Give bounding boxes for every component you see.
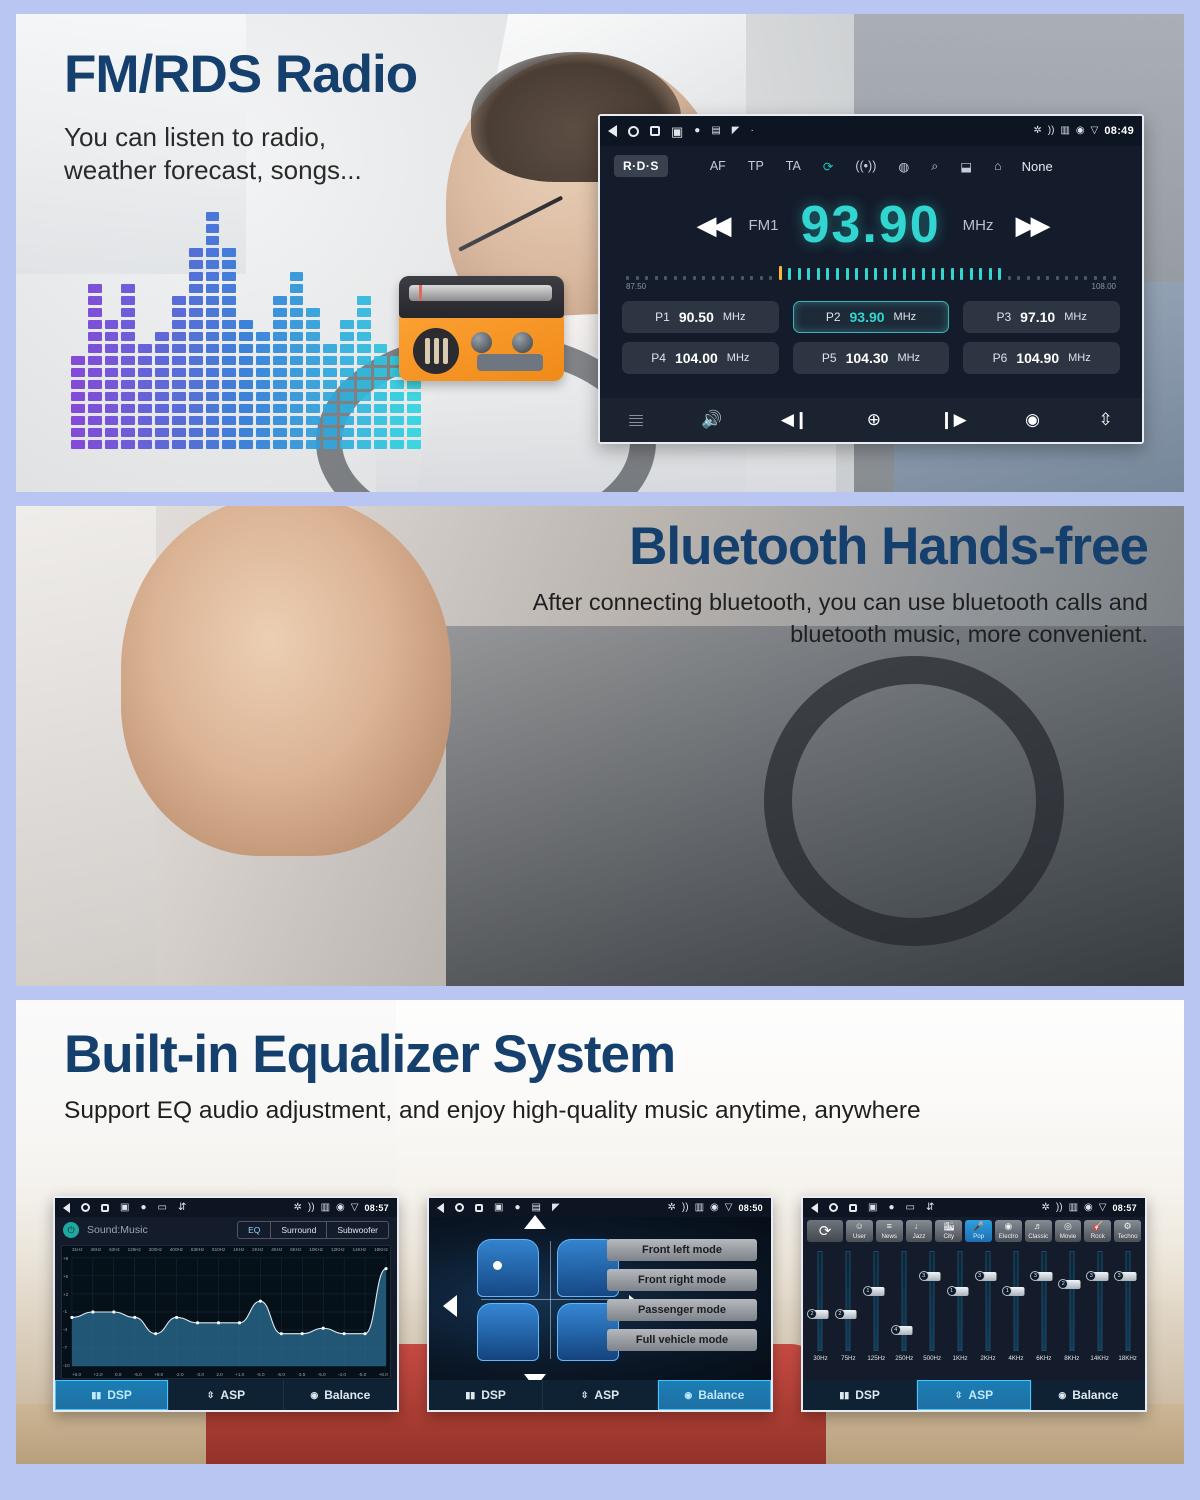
spectrum-block <box>357 404 371 413</box>
tuner-tick[interactable] <box>721 276 724 280</box>
eq-slider-bank[interactable]: 230Hz275Hz1125Hz4250Hz3500Hz11KHz32KHz14… <box>803 1245 1145 1369</box>
spectrum-block <box>155 416 169 425</box>
eq-slider-6khz[interactable]: 36KHz <box>1031 1249 1056 1369</box>
spectrum-block <box>172 308 186 317</box>
spectrum-block <box>374 344 388 353</box>
reset-icon[interactable]: ⟳ <box>807 1220 843 1242</box>
slider-rail[interactable] <box>818 1251 823 1351</box>
spectrum-block <box>357 416 371 425</box>
back-icon[interactable] <box>63 1203 70 1213</box>
preset-unit: MHz <box>1064 311 1087 323</box>
spectrum-block <box>340 356 354 365</box>
slider-rail[interactable] <box>1013 1251 1018 1351</box>
spectrum-block <box>206 332 220 341</box>
spectrum-block <box>306 440 320 449</box>
rewind-icon[interactable]: ◀◀ <box>697 210 727 241</box>
rds-option-af[interactable]: AF <box>710 159 726 173</box>
tuner-tick[interactable] <box>1008 276 1011 280</box>
preset-p1[interactable]: P190.50MHz <box>622 301 779 333</box>
eq-preset-label: Rock <box>1091 1233 1105 1240</box>
spectrum-block <box>239 344 253 353</box>
eq-slider-30hz[interactable]: 230Hz <box>808 1249 833 1369</box>
usb-icon: ⇵ <box>178 1203 186 1213</box>
usb-icon: ⇵ <box>926 1203 934 1213</box>
tuner-tick[interactable] <box>636 276 639 280</box>
spectrum-block <box>374 392 388 401</box>
dsp-value-label: -2.0 <box>176 1372 184 1377</box>
slider-track[interactable]: 3 <box>1031 1249 1056 1353</box>
home-icon[interactable] <box>829 1203 838 1212</box>
page-title-bluetooth: Bluetooth Hands-free <box>336 520 1148 573</box>
eq-slider-14khz[interactable]: 314KHz <box>1087 1249 1112 1369</box>
eq-slider-2khz[interactable]: 32KHz <box>976 1249 1001 1369</box>
rds-option-group[interactable]: AFTPTA⟳((•))◍⌕⬓⌂ <box>710 159 1002 174</box>
sound-mode-list[interactable]: Front left modeFront right modePassenger… <box>607 1239 757 1351</box>
tuner-tick[interactable] <box>865 268 868 280</box>
tuner-tick[interactable] <box>1037 276 1040 280</box>
slider-frequency-label: 14KHz <box>1090 1355 1109 1362</box>
tuner-tick[interactable] <box>903 268 906 280</box>
eq-preset-user[interactable]: ☺User <box>846 1220 873 1242</box>
spectrum-block <box>222 440 236 449</box>
spectrum-block <box>121 344 135 353</box>
spectrum-block <box>206 236 220 245</box>
eq-bottom-tabs[interactable]: ▮▮DSP⇳ASP◉Balance <box>803 1380 1145 1410</box>
tuner-tick[interactable] <box>884 268 887 280</box>
mode-button-front-left-mode[interactable]: Front left mode <box>607 1239 757 1261</box>
tuner-tick[interactable] <box>674 276 677 280</box>
slider-track[interactable]: 1 <box>864 1249 889 1353</box>
tuner-tick[interactable] <box>989 268 992 280</box>
preset-unit: MHz <box>1068 352 1091 364</box>
tuner-tick[interactable] <box>951 268 954 280</box>
statusbar-nav-group[interactable]: ▣ ● ▤ ◤ <box>437 1203 560 1213</box>
spectrum-block <box>273 428 287 437</box>
tuner-scale[interactable]: 87.50 108.00 <box>600 264 1142 291</box>
slider-track[interactable]: 4 <box>892 1249 917 1353</box>
spectrum-block <box>172 368 186 377</box>
tuner-tick[interactable] <box>1103 276 1106 280</box>
preset-p3[interactable]: P397.10MHz <box>963 301 1120 333</box>
balance-position-dot[interactable] <box>493 1261 502 1270</box>
seat-front-left[interactable] <box>477 1239 539 1297</box>
equalizer-icon[interactable]: ⇳ <box>1098 410 1112 430</box>
jazz-icon: ♩ <box>914 1222 923 1231</box>
spectrum-block <box>357 308 371 317</box>
record-dot-icon: ● <box>888 1203 894 1213</box>
spectrum-column <box>374 344 388 449</box>
rds-option-ta[interactable]: TA <box>786 159 801 173</box>
city-icon: 🏙 <box>943 1222 954 1231</box>
statusbar-status-group: ✲ )) ▥ ◉ ▽ 08:49 <box>1033 125 1134 137</box>
eq-preset-row[interactable]: ⟳ ☺User≡News♩Jazz🏙City🎤Pop◉Electro♬Class… <box>803 1217 1145 1245</box>
balance-axis-horizontal <box>481 1299 621 1300</box>
eq-tab-dsp[interactable]: ▮▮DSP <box>803 1380 917 1410</box>
spectrum-column <box>239 320 253 449</box>
scan-search-icon[interactable]: ⊕ <box>867 410 881 430</box>
tuner-tick[interactable] <box>1027 276 1030 280</box>
broadcast-icon[interactable]: ◉ <box>1025 410 1040 430</box>
preset-p2[interactable]: P293.90MHz <box>793 301 950 333</box>
graphic-equalizer-screen[interactable]: ▣ ● ▭ ⇵ ✲ )) ▥ ◉ ▽ 08:57 ⟳ <box>801 1196 1147 1412</box>
rds-option-icon-5[interactable]: ◍ <box>898 159 909 174</box>
eq-slider-1khz[interactable]: 11KHz <box>948 1249 973 1369</box>
spectrum-block <box>138 416 152 425</box>
spectrum-column <box>273 296 287 449</box>
eq-preset-label: News <box>881 1233 896 1240</box>
spectrum-block <box>256 344 270 353</box>
spectrum-block <box>273 380 287 389</box>
spectrum-block <box>71 404 85 413</box>
spectrum-block <box>138 356 152 365</box>
slider-rail[interactable] <box>985 1251 990 1351</box>
spectrum-block <box>273 332 287 341</box>
spectrum-block <box>390 392 404 401</box>
tuner-tick[interactable] <box>741 276 744 280</box>
screencast-icon: ▥ <box>1060 126 1069 136</box>
slider-rail[interactable] <box>1097 1251 1102 1351</box>
spectrum-block <box>172 320 186 329</box>
tuner-tick[interactable] <box>893 268 896 280</box>
spectrum-block <box>323 392 337 401</box>
dsp-eq-curve-chart[interactable]: 31Hz48Hz63Hz125Hz200Hz400Hz630Hz810Hz1KH… <box>61 1245 391 1379</box>
seat-rear-left[interactable] <box>477 1303 539 1361</box>
tuner-tick[interactable] <box>960 268 963 280</box>
spectrum-block <box>206 416 220 425</box>
eq-tab-balance[interactable]: ◉Balance <box>284 1380 397 1410</box>
statusbar-nav-group[interactable]: ▣ ● ▤ ◤ · <box>608 125 754 138</box>
spectrum-block <box>273 308 287 317</box>
spectrum-block <box>374 416 388 425</box>
recents-icon[interactable] <box>475 1204 483 1212</box>
spectrum-block <box>239 404 253 413</box>
radio-signal-icon[interactable]: 𝄙 <box>629 410 643 430</box>
rds-option-icon-7[interactable]: ⬓ <box>960 159 972 174</box>
preset-grid[interactable]: P190.50MHzP293.90MHzP397.10MHzP4104.00MH… <box>600 291 1142 374</box>
eq-preset-label: Techno <box>1118 1233 1138 1240</box>
spectrum-block <box>88 356 102 365</box>
spectrum-block <box>189 308 203 317</box>
spectrum-block <box>340 332 354 341</box>
mode-button-full-vehicle-mode[interactable]: Full vehicle mode <box>607 1329 757 1351</box>
tuner-tick[interactable] <box>750 276 753 280</box>
spectrum-block <box>105 320 119 329</box>
preset-frequency: 104.90 <box>1016 350 1059 366</box>
slider-value: 2 <box>807 1309 817 1319</box>
spectrum-column <box>71 356 85 449</box>
next-track-icon[interactable]: ❙▶ <box>939 410 966 430</box>
eq-preset-buttons[interactable]: ☺User≡News♩Jazz🏙City🎤Pop◉Electro♬Classic… <box>846 1220 1141 1242</box>
eq-tab-asp[interactable]: ⇳ASP <box>169 1380 283 1410</box>
location-icon: ◉ <box>336 1203 345 1213</box>
pop-icon: 🎤 <box>973 1222 984 1231</box>
spectrum-block <box>206 428 220 437</box>
recents-icon[interactable] <box>650 126 660 136</box>
tuner-tick[interactable] <box>683 276 686 280</box>
eq-tab-dsp[interactable]: ▮▮DSP <box>55 1380 169 1410</box>
dsp-tab-surround[interactable]: Surround <box>271 1222 327 1238</box>
slider-track[interactable]: 3 <box>1115 1249 1140 1353</box>
spectrum-block <box>306 344 320 353</box>
spectrum-block <box>71 416 85 425</box>
preset-frequency: 93.90 <box>850 309 885 325</box>
slider-track[interactable]: 3 <box>920 1249 945 1353</box>
spectrum-block <box>71 392 85 401</box>
tuner-ticks[interactable] <box>626 264 1116 280</box>
spectrum-block <box>206 284 220 293</box>
slider-rail[interactable] <box>846 1251 851 1351</box>
balance-speaker-icon: ◉ <box>310 1390 318 1401</box>
slider-track[interactable]: 2 <box>836 1249 861 1353</box>
tuner-tick[interactable] <box>826 268 829 280</box>
tuner-tick[interactable] <box>693 276 696 280</box>
eq-slider-8khz[interactable]: 28KHz <box>1059 1249 1084 1369</box>
frequency-display-row: ◀◀ FM1 93.90 MHz ▶▶ <box>600 186 1142 264</box>
spectrum-block <box>256 392 270 401</box>
tuner-tick[interactable] <box>1046 276 1049 280</box>
rds-badge[interactable]: R·D·S <box>614 155 668 177</box>
tuner-tick[interactable] <box>798 268 801 280</box>
slider-rail[interactable] <box>874 1251 879 1351</box>
slider-track[interactable]: 1 <box>948 1249 973 1353</box>
preset-frequency: 90.50 <box>679 309 714 325</box>
eq-preset-city[interactable]: 🏙City <box>935 1220 962 1242</box>
rds-option-icon-3[interactable]: ⟳ <box>823 159 833 174</box>
back-icon[interactable] <box>608 125 617 137</box>
home-icon[interactable] <box>628 126 639 137</box>
spectrum-block <box>206 224 220 233</box>
dsp-tab-subwoofer[interactable]: Subwoofer <box>327 1222 388 1238</box>
mode-button-front-right-mode[interactable]: Front right mode <box>607 1269 757 1291</box>
preset-p4[interactable]: P4104.00MHz <box>622 342 779 374</box>
spectrum-block <box>306 308 320 317</box>
tuner-tick[interactable] <box>874 268 877 280</box>
eq-tab-balance[interactable]: ◉Balance <box>658 1380 771 1410</box>
eq-preset-rock[interactable]: 🎸Rock <box>1084 1220 1111 1242</box>
tuner-tick[interactable] <box>970 268 973 280</box>
eq-preset-label: Electro <box>999 1233 1018 1240</box>
spectrum-block <box>290 344 304 353</box>
tuner-tick[interactable] <box>1113 276 1116 280</box>
tuner-tick[interactable] <box>912 268 915 280</box>
eq-tab-asp[interactable]: ⇳ASP <box>543 1380 657 1410</box>
rds-option-icon-6[interactable]: ⌕ <box>931 159 938 174</box>
spectrum-block <box>357 356 371 365</box>
statusbar-nav-group[interactable]: ▣ ● ▭ ⇵ <box>63 1203 186 1213</box>
spectrum-block <box>273 416 287 425</box>
mode-button-passenger-mode[interactable]: Passenger mode <box>607 1299 757 1321</box>
eq-preset-news[interactable]: ≡News <box>876 1220 903 1242</box>
slider-rail[interactable] <box>1069 1251 1074 1351</box>
arrow-up-icon[interactable] <box>524 1215 546 1229</box>
balance-screen[interactable]: ▣ ● ▤ ◤ ✲ )) ▥ ◉ ▽ 08:50 <box>427 1196 773 1412</box>
tuner-tick[interactable] <box>769 276 772 280</box>
spectrum-block <box>239 332 253 341</box>
preset-p5[interactable]: P5104.30MHz <box>793 342 950 374</box>
eq-slider-250hz[interactable]: 4250Hz <box>892 1249 917 1369</box>
eq-preset-electro[interactable]: ◉Electro <box>995 1220 1022 1242</box>
tuner-tick[interactable] <box>788 268 791 280</box>
tuner-tick[interactable] <box>998 268 1001 280</box>
spectrum-column <box>357 296 371 449</box>
tuner-tick[interactable] <box>1075 276 1078 280</box>
rds-option-icon-8[interactable]: ⌂ <box>994 159 1002 173</box>
spectrum-block <box>88 296 102 305</box>
spectrum-block <box>105 416 119 425</box>
eq-preset-classic[interactable]: ♬Classic <box>1025 1220 1052 1242</box>
spectrum-block <box>222 380 236 389</box>
screencast-icon: ▥ <box>321 1203 330 1213</box>
home-icon[interactable] <box>455 1203 464 1212</box>
dsp-tab-eq[interactable]: EQ <box>238 1222 271 1238</box>
recents-icon[interactable] <box>101 1204 109 1212</box>
slider-track[interactable]: 3 <box>1087 1249 1112 1353</box>
tuner-cursor[interactable] <box>779 266 782 280</box>
screenshot-icon: ▣ <box>120 1203 129 1213</box>
eq-preset-pop[interactable]: 🎤Pop <box>965 1220 992 1242</box>
spectrum-block <box>206 356 220 365</box>
preset-p6[interactable]: P6104.90MHz <box>963 342 1120 374</box>
radio-head-unit-screen[interactable]: ▣ ● ▤ ◤ · ✲ )) ▥ ◉ ▽ 08:49 R·D·S AFTPTA⟳… <box>598 114 1144 444</box>
spectrum-block <box>105 368 119 377</box>
eq-slider-500hz[interactable]: 3500Hz <box>920 1249 945 1369</box>
slider-track[interactable]: 1 <box>1003 1249 1028 1353</box>
spectrum-block <box>88 344 102 353</box>
home-icon[interactable] <box>81 1203 90 1212</box>
spectrum-block <box>88 308 102 317</box>
dsp-mode-tabs[interactable]: EQSurroundSubwoofer <box>237 1221 389 1239</box>
eq-tab-balance[interactable]: ◉Balance <box>1032 1380 1145 1410</box>
spectrum-column <box>189 248 203 449</box>
eq-tab-asp[interactable]: ⇳ASP <box>917 1380 1031 1410</box>
tuner-tick[interactable] <box>941 268 944 280</box>
spectrum-column <box>290 272 304 449</box>
tuner-tick[interactable] <box>731 276 734 280</box>
tuner-tick[interactable] <box>1017 276 1020 280</box>
tuner-tick[interactable] <box>645 276 648 280</box>
spectrum-block <box>172 416 186 425</box>
eq-tab-dsp[interactable]: ▮▮DSP <box>429 1380 543 1410</box>
spectrum-block <box>138 428 152 437</box>
back-icon[interactable] <box>437 1203 444 1213</box>
slider-value: 1 <box>863 1286 873 1296</box>
spectrum-block <box>206 392 220 401</box>
radio-device-illustration <box>399 254 574 384</box>
slider-rail[interactable] <box>902 1251 907 1351</box>
tuner-tick[interactable] <box>807 268 810 280</box>
spectrum-block <box>306 320 320 329</box>
tuner-tick[interactable] <box>702 276 705 280</box>
bluetooth-icon: ✲ <box>668 1203 676 1213</box>
spectrum-block <box>189 428 203 437</box>
spectrum-block <box>88 392 102 401</box>
eq-slider-4khz[interactable]: 14KHz <box>1003 1249 1028 1369</box>
screenshot-icon: ▣ <box>494 1203 503 1213</box>
tuner-tick[interactable] <box>922 268 925 280</box>
tuner-tick[interactable] <box>760 276 763 280</box>
tuner-tick[interactable] <box>626 276 629 280</box>
balance-bottom-tabs[interactable]: ▮▮DSP⇳ASP◉Balance <box>429 1380 771 1410</box>
rds-option-tp[interactable]: TP <box>748 159 764 173</box>
fast-forward-icon[interactable]: ▶▶ <box>1015 210 1045 241</box>
recents-icon[interactable] <box>849 1204 857 1212</box>
rock-icon: 🎸 <box>1092 1222 1103 1231</box>
tuner-tick[interactable] <box>979 268 982 280</box>
volume-icon[interactable]: 🔊 <box>701 410 722 430</box>
spectrum-block <box>155 404 169 413</box>
spectrum-block <box>189 320 203 329</box>
spectrum-block <box>239 428 253 437</box>
tuner-tick[interactable] <box>817 268 820 280</box>
tuner-tick[interactable] <box>664 276 667 280</box>
movie-icon: ◎ <box>1064 1222 1072 1231</box>
rds-pty-value[interactable]: None <box>1022 159 1053 174</box>
rds-option-icon-4[interactable]: ((•)) <box>855 159 876 173</box>
slider-rail[interactable] <box>1041 1251 1046 1351</box>
eq-preset-jazz[interactable]: ♩Jazz <box>906 1220 933 1242</box>
slider-rail[interactable] <box>930 1251 935 1351</box>
eq-preset-techno[interactable]: ⚙Techno <box>1114 1220 1141 1242</box>
slider-track[interactable]: 2 <box>1059 1249 1084 1353</box>
balance-body[interactable]: Front left modeFront right modePassenger… <box>429 1217 771 1384</box>
slider-track[interactable]: 2 <box>808 1249 833 1353</box>
slider-track[interactable]: 3 <box>976 1249 1001 1353</box>
eq-slider-125hz[interactable]: 1125Hz <box>864 1249 889 1369</box>
dsp-bottom-tabs[interactable]: ▮▮DSP⇳ASP◉Balance <box>55 1380 397 1410</box>
asp-sliders-icon: ⇳ <box>581 1390 589 1401</box>
tuner-tick[interactable] <box>655 276 658 280</box>
spectrum-column <box>88 284 102 449</box>
eq-preset-movie[interactable]: ◎Movie <box>1055 1220 1082 1242</box>
previous-track-icon[interactable]: ◀❙ <box>781 410 808 430</box>
tuner-tick[interactable] <box>1056 276 1059 280</box>
arrow-left-icon[interactable] <box>443 1295 457 1317</box>
eq-slider-18khz[interactable]: 318KHz <box>1115 1249 1140 1369</box>
slider-rail[interactable] <box>958 1251 963 1351</box>
back-icon[interactable] <box>811 1203 818 1213</box>
dsp-screen[interactable]: ▣ ● ▭ ⇵ ✲ )) ▥ ◉ ▽ 08:57 ⏻ <box>53 1196 399 1412</box>
slider-frequency-label: 125Hz <box>867 1355 885 1362</box>
equalizer-screens-row: ▣ ● ▭ ⇵ ✲ )) ▥ ◉ ▽ 08:57 ⏻ <box>16 1196 1184 1412</box>
eq-tab-label: ASP <box>968 1388 993 1402</box>
band-label[interactable]: FM1 <box>749 217 779 234</box>
spectrum-block <box>105 356 119 365</box>
tuner-tick[interactable] <box>1084 276 1087 280</box>
tuner-tick[interactable] <box>1094 276 1097 280</box>
tuner-tick[interactable] <box>1065 276 1068 280</box>
tuner-tick[interactable] <box>932 268 935 280</box>
tuner-tick[interactable] <box>836 268 839 280</box>
slider-rail[interactable] <box>1125 1251 1130 1351</box>
statusbar-time: 08:57 <box>1112 1203 1137 1213</box>
tuner-tick[interactable] <box>712 276 715 280</box>
spectrum-block <box>121 404 135 413</box>
spectrum-block <box>290 380 304 389</box>
eq-slider-75hz[interactable]: 275Hz <box>836 1249 861 1369</box>
preset-unit: MHz <box>727 352 750 364</box>
spectrum-block <box>290 284 304 293</box>
spectrum-block <box>155 332 169 341</box>
tuner-tick[interactable] <box>846 268 849 280</box>
eq-preset-label: Classic <box>1028 1233 1048 1240</box>
statusbar-nav-group[interactable]: ▣ ● ▭ ⇵ <box>811 1203 934 1213</box>
tuner-tick[interactable] <box>855 268 858 280</box>
power-icon[interactable]: ⏻ <box>63 1222 79 1238</box>
spectrum-block <box>222 428 236 437</box>
spectrum-block <box>357 440 371 449</box>
spectrum-column <box>407 380 421 449</box>
radio-bottom-bar[interactable]: 𝄙 🔊 ◀❙ ⊕ ❙▶ ◉ ⇳ <box>600 398 1142 442</box>
